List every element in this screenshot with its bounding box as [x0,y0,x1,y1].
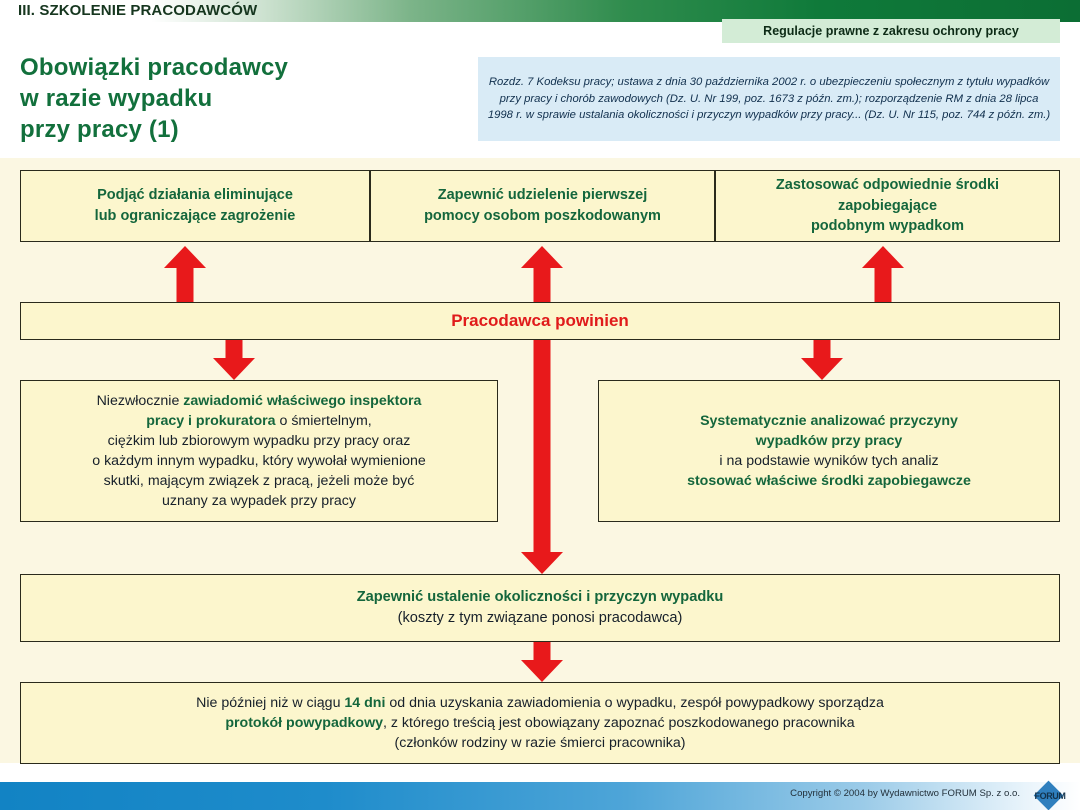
line-3: i na podstawie wyników tych analiz [719,453,938,469]
legal-reference-box: Rozdz. 7 Kodeksu pracy; ustawa z dnia 30… [478,57,1060,141]
duty-box-accident-report-text: Nie później niż w ciągu 14 dni od dnia u… [196,693,884,753]
line-2: (koszty z tym związane ponosi pracodawca… [398,610,683,626]
forum-logo-icon: FORUM [1028,784,1072,808]
section-title: III. SZKOLENIE PRACODAWCÓW [18,2,257,19]
arrow-shaft [814,340,831,360]
duty-box-first-aid-text: Zapewnić udzielenie pierwszej pomocy oso… [424,185,661,226]
duty-box-analyze-causes-text: Systematycznie analizować przyczynywypad… [687,411,971,492]
copyright-text: Copyright © 2004 by Wydawnictwo FORUM Sp… [790,788,1020,799]
arrow-shaft [177,266,194,302]
line-3: podobnym wypadkom [811,218,964,234]
segment-bold-2: protokół powypadkowy [225,715,383,731]
duty-box-notify-inspector: Niezwłocznie zawiadomić właściwego inspe… [20,380,498,522]
line-3: ciężkim lub zbiorowym wypadku przy pracy… [108,433,411,449]
arrow-down-long-to-establish-circumstances [521,340,563,574]
line-2: wypadków przy pracy [756,433,903,449]
arrow-head [862,246,904,268]
forum-logo-word: FORUM [1028,791,1072,801]
duty-box-eliminate-hazard-text: Podjąć działania eliminujące lub ogranic… [95,185,296,226]
line-2: zapobiegające [838,198,937,214]
page-title-line-3: przy pracy (1) [20,114,470,145]
page-title-line-1: Obowiązki pracodawcy [20,52,470,83]
arrow-head [521,246,563,268]
line-1: Zapewnić udzielenie pierwszej [438,187,648,203]
arrow-down-to-notify-inspector [213,340,255,380]
segment-bold-1: 14 dni [344,695,385,711]
arrow-shaft [226,340,243,360]
segment-plain-2: o śmiertelnym, [276,413,372,429]
employer-should-banner: Pracodawca powinien [20,302,1060,340]
line-1: Podjąć działania eliminujące [97,187,293,203]
arrow-up-to-preventive-measures [862,246,904,302]
arrow-down-to-accident-report [521,642,563,682]
arrow-head [801,358,843,380]
arrow-shaft [875,266,892,302]
arrow-shaft [534,266,551,302]
duty-box-establish-circumstances: Zapewnić ustalenie okoliczności i przycz… [20,574,1060,642]
arrow-down-to-analyze-causes [801,340,843,380]
flow-diagram: Podjąć działania eliminujące lub ogranic… [0,158,1080,763]
segment-plain-3: , z którego treścią jest obowiązany zapo… [383,715,855,731]
duty-box-accident-report: Nie później niż w ciągu 14 dni od dnia u… [20,682,1060,764]
line-1: Zastosować odpowiednie środki [776,177,999,193]
duty-box-preventive-measures-text: Zastosować odpowiednie środki zapobiegaj… [776,175,999,237]
arrow-head [521,660,563,682]
arrow-head [213,358,255,380]
line-1: Systematycznie analizować przyczyny [700,413,958,429]
line-3: (członków rodziny w razie śmierci pracow… [395,735,686,751]
arrow-shaft [534,642,551,662]
legal-reference-text: Rozdz. 7 Kodeksu pracy; ustawa z dnia 30… [486,74,1052,125]
arrow-head [521,552,563,574]
employer-should-banner-text: Pracodawca powinien [451,309,629,333]
segment-plain-2: od dnia uzyskania zawiadomienia o wypadk… [385,695,883,711]
duty-box-eliminate-hazard: Podjąć działania eliminujące lub ogranic… [20,170,370,242]
duty-box-notify-inspector-text: Niezwłocznie zawiadomić właściwego inspe… [92,391,426,512]
line-1: Zapewnić ustalenie okoliczności i przycz… [357,589,724,605]
duty-box-first-aid: Zapewnić udzielenie pierwszej pomocy oso… [370,170,715,242]
segment-plain-1: Nie później niż w ciągu [196,695,344,711]
segment-plain-1: Niezwłocznie [97,393,184,409]
duty-box-establish-circumstances-text: Zapewnić ustalenie okoliczności i przycz… [357,587,724,628]
line-5: skutki, mającym związek z pracą, jeżeli … [104,473,415,489]
segment-bold-1: zawiadomić właściwego inspektora [183,393,421,409]
segment-bold-2: pracy i prokuratora [146,413,275,429]
line-4: stosować właściwe środki zapobiegawcze [687,473,971,489]
line-2: lub ograniczające zagrożenie [95,208,296,224]
arrow-up-to-eliminate-hazard [164,246,206,302]
arrow-head [164,246,206,268]
page-title: Obowiązki pracodawcy w razie wypadku prz… [20,52,470,146]
arrow-shaft [534,340,551,554]
duty-box-preventive-measures: Zastosować odpowiednie środki zapobiegaj… [715,170,1060,242]
line-4: o każdym innym wypadku, który wywołał wy… [92,453,426,469]
duty-box-analyze-causes: Systematycznie analizować przyczynywypad… [598,380,1060,522]
line-6: uznany za wypadek przy pracy [162,493,356,509]
legal-regulations-badge: Regulacje prawne z zakresu ochrony pracy [722,19,1060,43]
arrow-up-to-first-aid [521,246,563,302]
page-title-line-2: w razie wypadku [20,83,470,114]
line-2: pomocy osobom poszkodowanym [424,208,661,224]
